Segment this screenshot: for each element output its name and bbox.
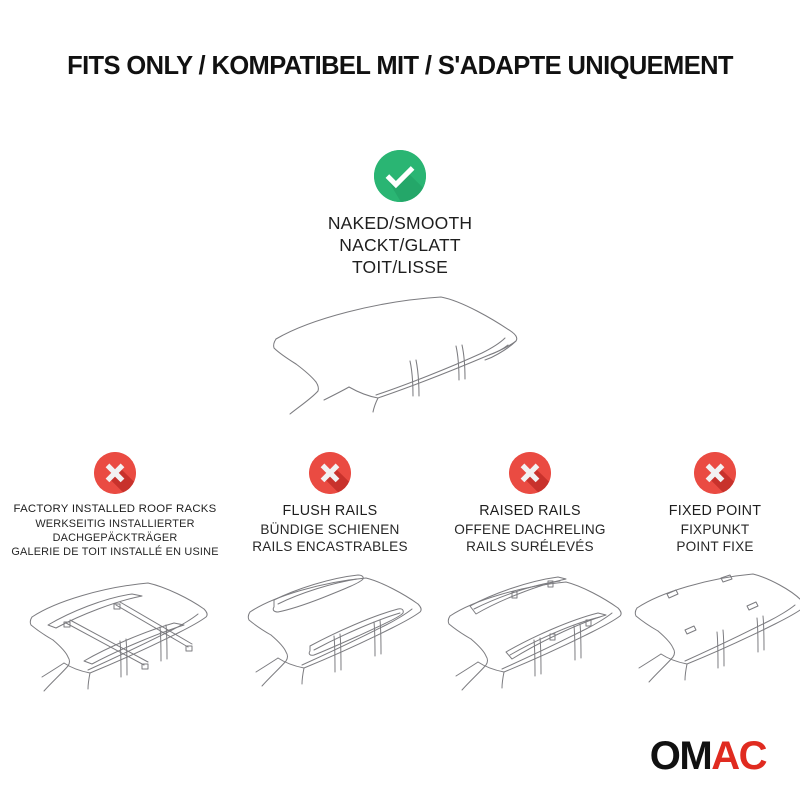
label-fr: GALERIE DE TOIT INSTALLÉ EN USINE: [11, 545, 218, 559]
x-circle-icon: [94, 452, 136, 494]
incompatible-item-factory-roof-racks: FACTORY INSTALLED ROOF RACKS WERKSEITIG …: [0, 452, 230, 710]
compatible-label-en: NAKED/SMOOTH: [328, 212, 472, 234]
label-en: FLUSH RAILS: [252, 502, 407, 521]
label-fr: RAILS SURÉLEVÉS: [454, 538, 605, 556]
compatible-label-fr: TOIT/LISSE: [328, 256, 472, 278]
label-en: FACTORY INSTALLED ROOF RACKS: [11, 502, 218, 517]
x-circle-icon: [509, 452, 551, 494]
car-roof-flush-rails-illustration: [230, 562, 430, 707]
label-en: RAISED RAILS: [454, 502, 605, 521]
x-circle-icon: [309, 452, 351, 494]
incompatible-labels: FLUSH RAILS BÜNDIGE SCHIENEN RAILS ENCAS…: [252, 502, 407, 556]
x-circle-icon: [694, 452, 736, 494]
check-circle-icon: [374, 150, 426, 202]
car-roof-naked-smooth-illustration: [250, 292, 550, 422]
page-title: FITS ONLY / KOMPATIBEL MIT / S'ADAPTE UN…: [0, 52, 800, 81]
incompatible-labels: FIXED POINT FIXPUNKT POINT FIXE: [669, 502, 762, 556]
label-fr: POINT FIXE: [669, 538, 762, 556]
incompatible-item-raised-rails: RAISED RAILS OFFENE DACHRELING RAILS SUR…: [430, 452, 630, 707]
incompatible-labels: RAISED RAILS OFFENE DACHRELING RAILS SUR…: [454, 502, 605, 556]
label-en: FIXED POINT: [669, 502, 762, 521]
compatible-section: NAKED/SMOOTH NACKT/GLATT TOIT/LISSE: [0, 150, 800, 422]
label-de-1: WERKSEITIG INSTALLIERTER: [11, 517, 218, 531]
incompatible-item-fixed-point: FIXED POINT FIXPUNKT POINT FIXE: [630, 452, 800, 707]
compatible-label-de: NACKT/GLATT: [328, 234, 472, 256]
logo-text-ac: AC: [711, 734, 766, 778]
car-roof-fixed-point-illustration: [623, 562, 800, 707]
incompatible-section: FACTORY INSTALLED ROOF RACKS WERKSEITIG …: [0, 452, 800, 710]
label-de-1: BÜNDIGE SCHIENEN: [252, 521, 407, 539]
car-roof-factory-roof-racks-illustration: [8, 565, 223, 710]
car-roof-raised-rails-illustration: [430, 562, 630, 707]
label-fr: RAILS ENCASTRABLES: [252, 538, 407, 556]
logo-text-om: OM: [650, 734, 711, 778]
incompatible-item-flush-rails: FLUSH RAILS BÜNDIGE SCHIENEN RAILS ENCAS…: [230, 452, 430, 707]
label-de-2: DACHGEPÄCKTRÄGER: [11, 531, 218, 545]
label-de-1: OFFENE DACHRELING: [454, 521, 605, 539]
incompatible-labels: FACTORY INSTALLED ROOF RACKS WERKSEITIG …: [11, 502, 218, 559]
compatible-labels: NAKED/SMOOTH NACKT/GLATT TOIT/LISSE: [328, 212, 472, 278]
omac-logo: OMAC: [650, 736, 766, 776]
label-de-1: FIXPUNKT: [669, 521, 762, 539]
